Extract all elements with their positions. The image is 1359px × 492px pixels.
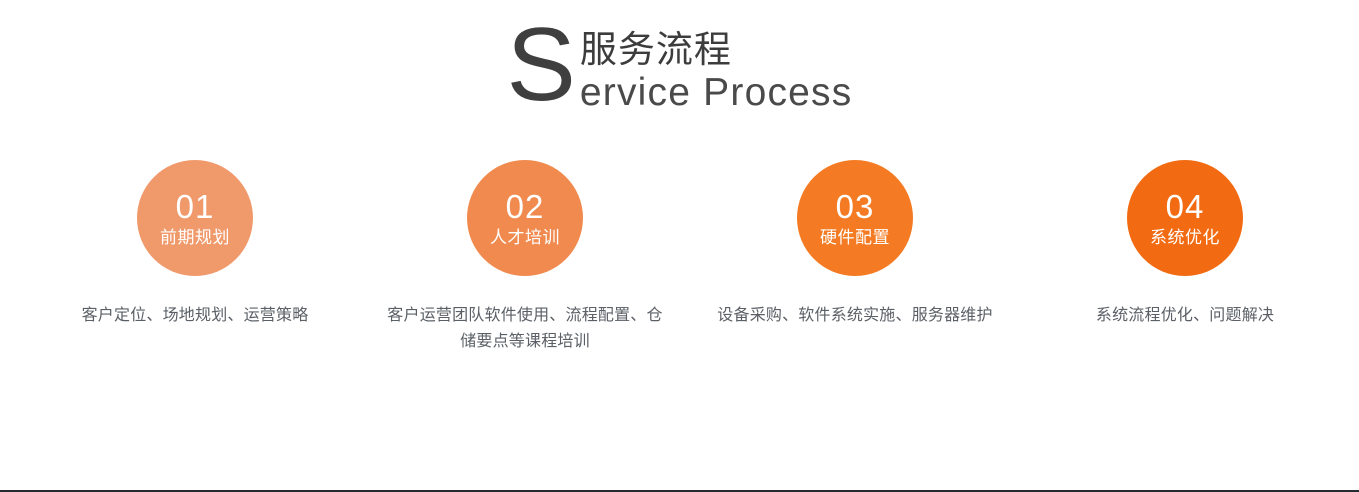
section-header: S 服务流程 ervice Process [0, 0, 1359, 140]
step-label-2: 人才培训 [490, 226, 560, 250]
page-title-en: ervice Process [580, 71, 853, 115]
step-circle-4[interactable]: 04 系统优化 [1127, 160, 1243, 276]
step-number-2: 02 [506, 189, 545, 225]
process-step-1: 01 前期规划 客户定位、场地规划、运营策略 [30, 160, 360, 354]
step-caption-2: 客户运营团队软件使用、流程配置、仓储要点等课程培训 [380, 302, 670, 354]
process-step-2: 02 人才培训 客户运营团队软件使用、流程配置、仓储要点等课程培训 [360, 160, 690, 354]
process-step-4: 04 系统优化 系统流程优化、问题解决 [1020, 160, 1350, 354]
page-title-cn: 服务流程 [580, 27, 853, 73]
step-circle-1[interactable]: 01 前期规划 [137, 160, 253, 276]
step-label-1: 前期规划 [160, 226, 230, 250]
step-label-4: 系统优化 [1150, 226, 1220, 250]
process-steps-row: 01 前期规划 客户定位、场地规划、运营策略 02 人才培训 客户运营团队软件使… [0, 160, 1359, 354]
step-label-3: 硬件配置 [820, 226, 890, 250]
header-title-group: S 服务流程 ervice Process [507, 22, 853, 118]
step-caption-4: 系统流程优化、问题解决 [1040, 302, 1330, 328]
step-circle-3[interactable]: 03 硬件配置 [797, 160, 913, 276]
step-number-4: 04 [1166, 189, 1205, 225]
process-step-3: 03 硬件配置 设备采购、软件系统实施、服务器维护 [690, 160, 1020, 354]
initial-letter-s: S [507, 18, 576, 114]
step-number-1: 01 [176, 189, 215, 225]
step-caption-1: 客户定位、场地规划、运营策略 [50, 302, 340, 328]
header-text-block: 服务流程 ervice Process [580, 22, 853, 115]
step-number-3: 03 [836, 189, 875, 225]
step-caption-3: 设备采购、软件系统实施、服务器维护 [710, 302, 1000, 328]
step-circle-2[interactable]: 02 人才培训 [467, 160, 583, 276]
